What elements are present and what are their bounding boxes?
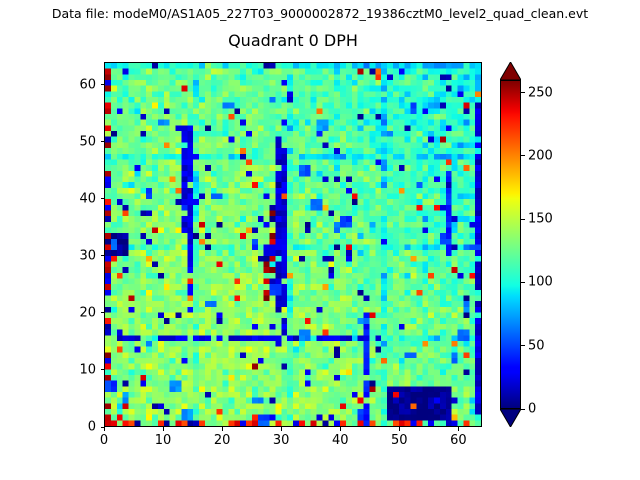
colorbar[interactable] [500, 62, 521, 427]
colorbar-gradient-body [500, 80, 521, 409]
y-tick-label: 30 [58, 248, 96, 263]
colorbar-tick-mark [521, 92, 525, 93]
y-tick-label: 50 [58, 134, 96, 149]
colorbar-gradient [501, 81, 520, 408]
y-tick-label: 0 [58, 420, 96, 435]
y-tick-mark [101, 312, 105, 313]
x-tick-mark [399, 427, 400, 431]
x-tick-label: 60 [450, 433, 467, 448]
x-tick-label: 40 [332, 433, 349, 448]
y-tick-label: 10 [58, 362, 96, 377]
colorbar-extend-up-arrow [500, 62, 521, 80]
x-tick-mark [222, 427, 223, 431]
y-tick-mark [101, 141, 105, 142]
data-file-suptitle: Data file: modeM0/AS1A05_227T03_90000028… [0, 7, 640, 21]
y-tick-mark [101, 255, 105, 256]
colorbar-tick-mark [521, 282, 525, 283]
quadrant-dph-heatmap[interactable] [105, 63, 481, 426]
heatmap-axes[interactable] [104, 62, 482, 427]
colorbar-extend-down-arrow [500, 409, 521, 427]
y-tick-mark [101, 84, 105, 85]
y-tick-mark [101, 427, 105, 428]
colorbar-tick-label: 200 [528, 148, 553, 163]
colorbar-tick-mark [521, 219, 525, 220]
y-tick-label: 40 [58, 191, 96, 206]
x-tick-label: 0 [100, 433, 108, 448]
y-tick-label: 20 [58, 305, 96, 320]
colorbar-tick-label: 0 [528, 402, 536, 417]
y-tick-mark [101, 198, 105, 199]
colorbar-tick-mark [521, 345, 525, 346]
x-tick-mark [281, 427, 282, 431]
x-tick-label: 50 [391, 433, 408, 448]
x-tick-label: 30 [273, 433, 290, 448]
colorbar-tick-label: 150 [528, 212, 553, 227]
x-tick-label: 20 [214, 433, 231, 448]
x-tick-mark [340, 427, 341, 431]
colorbar-tick-mark [521, 409, 525, 410]
colorbar-tick-label: 50 [528, 338, 545, 353]
y-tick-label: 60 [58, 77, 96, 92]
x-tick-mark [163, 427, 164, 431]
y-tick-mark [101, 369, 105, 370]
matplotlib-figure: Data file: modeM0/AS1A05_227T03_90000028… [0, 0, 640, 480]
colorbar-tick-label: 250 [528, 85, 553, 100]
x-tick-mark [458, 427, 459, 431]
colorbar-tick-label: 100 [528, 275, 553, 290]
x-tick-mark [104, 427, 105, 431]
plot-title: Quadrant 0 DPH [104, 31, 482, 50]
x-tick-label: 10 [155, 433, 172, 448]
colorbar-tick-mark [521, 155, 525, 156]
